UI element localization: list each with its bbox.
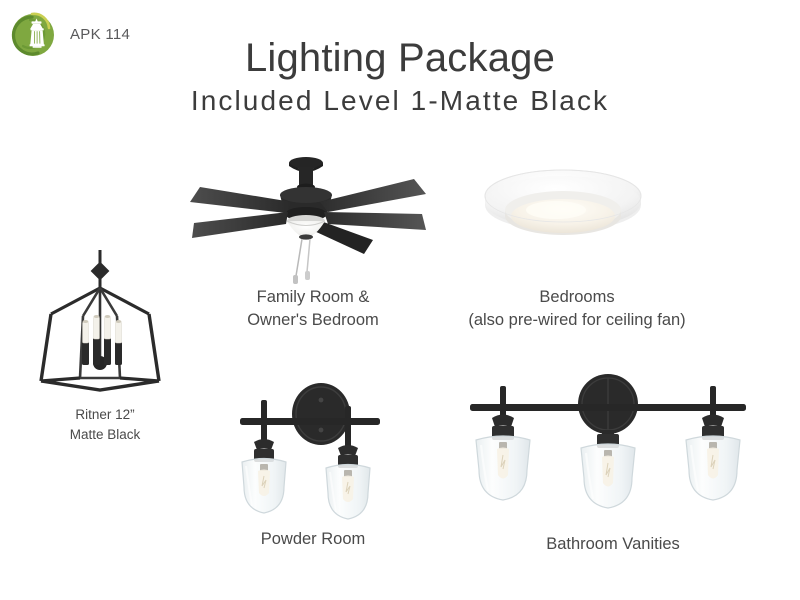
title-block: Lighting Package Included Level 1-Matte …	[0, 36, 800, 117]
lighting-package-slide: APK 114 Lighting Package Included Level …	[0, 0, 800, 600]
ceiling-fan-icon	[168, 150, 448, 285]
flush-mount-light-icon	[468, 158, 658, 273]
caption-family-room: Family Room & Owner's Bedroom	[208, 286, 418, 333]
lantern-pendant-icon	[25, 250, 175, 395]
page-subtitle: Included Level 1-Matte Black	[0, 84, 800, 118]
caption-bathroom-vanities: Bathroom Vanities	[498, 533, 728, 556]
two-light-vanity-icon	[218, 372, 408, 520]
three-light-vanity-icon	[458, 372, 758, 527]
caption-bedrooms: Bedrooms (also pre-wired for ceiling fan…	[432, 286, 722, 333]
caption-powder-room: Powder Room	[218, 528, 408, 551]
caption-ritner-lantern: Ritner 12” Matte Black	[30, 405, 180, 444]
page-title: Lighting Package	[0, 36, 800, 82]
